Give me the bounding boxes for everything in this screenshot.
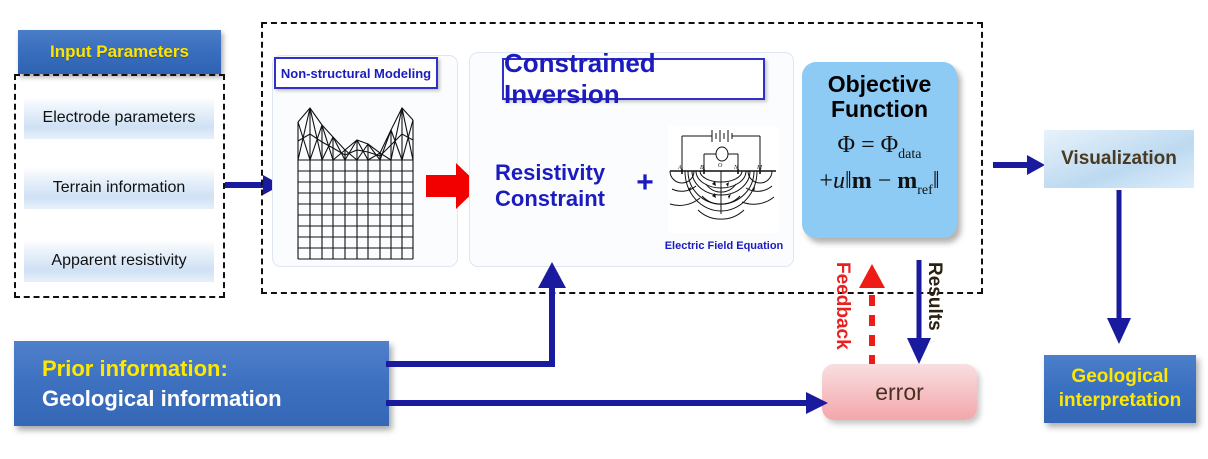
formula-norm-open: ‖	[845, 168, 852, 194]
formula-weight-u: u	[833, 168, 845, 194]
formula-subscript-ref: ref	[917, 183, 933, 198]
resistivity-constraint-line2: Constraint	[495, 186, 625, 212]
results-label: Results	[923, 262, 945, 331]
electric-field-caption: Electric Field Equation	[660, 240, 788, 252]
formula-plus: +	[819, 168, 833, 194]
electric-field-caption-label: Electric Field Equation	[665, 240, 784, 252]
resistivity-constraint-label: Resistivity Constraint	[495, 160, 625, 220]
arrow-visualization-to-geological	[1105, 190, 1133, 345]
arrow-objective-to-visualization	[993, 152, 1045, 178]
error-label: error	[875, 379, 924, 406]
input-item-label: Terrain information	[53, 179, 186, 197]
formula-vector-m: m	[852, 168, 872, 194]
diagram-canvas: Input Parameters Electrode parameters Te…	[0, 0, 1208, 459]
objective-function-formula-line1: Φ = Φdata	[838, 132, 922, 163]
plus-operator: +	[632, 166, 658, 200]
objective-function-title: Objective Function	[828, 72, 932, 123]
input-item-label: Electrode parameters	[43, 109, 196, 127]
prior-information-line2: Geological information	[14, 384, 389, 413]
geological-interpretation-line2: interpretation	[1059, 389, 1181, 413]
feedback-label-text: Feedback	[832, 262, 853, 350]
arrow-prior-to-inversion	[386, 262, 576, 372]
formula-equals: =	[861, 132, 875, 158]
visualization-box: Visualization	[1044, 130, 1194, 188]
objective-function-box: Objective Function Φ = Φdata +u‖m − mref…	[802, 62, 957, 238]
prior-information-box: Prior information: Geological informatio…	[14, 341, 389, 426]
input-item-terrain-information[interactable]: Terrain information	[24, 167, 214, 209]
arrow-prior-to-error	[386, 390, 828, 416]
error-box: error	[822, 364, 977, 420]
input-item-label: Apparent resistivity	[51, 252, 186, 270]
feedback-label: Feedback	[831, 262, 853, 350]
svg-text:B: B	[700, 165, 704, 171]
input-item-apparent-resistivity[interactable]: Apparent resistivity	[24, 240, 214, 282]
formula-subscript-data: data	[898, 146, 921, 161]
electric-field-figure: A B O N M	[668, 126, 778, 233]
prior-information-line1: Prior information:	[14, 354, 389, 383]
formula-vector-mref: m	[897, 168, 917, 194]
constrained-inversion-title-box: Constrained Inversion	[502, 58, 765, 100]
formula-phi-rhs: Φ	[881, 132, 899, 158]
svg-text:A: A	[677, 165, 682, 171]
svg-text:M: M	[756, 165, 763, 171]
mesh-figure	[288, 100, 428, 265]
modeling-title-label: Non-structural Modeling	[281, 66, 431, 81]
objective-function-title-line2: Function	[828, 97, 932, 122]
plus-operator-label: +	[636, 166, 654, 200]
geological-interpretation-line1: Geological	[1071, 365, 1168, 389]
geological-interpretation-box: Geological interpretation	[1044, 355, 1196, 423]
input-parameters-header: Input Parameters	[18, 30, 221, 74]
objective-function-title-line1: Objective	[828, 72, 932, 97]
objective-function-formula-line2: +u‖m − mref‖	[819, 168, 939, 199]
formula-minus: −	[878, 168, 892, 194]
resistivity-constraint-line1: Resistivity	[495, 160, 625, 186]
input-parameters-header-label: Input Parameters	[50, 42, 189, 62]
constrained-inversion-title-label: Constrained Inversion	[504, 48, 763, 110]
visualization-label: Visualization	[1061, 148, 1177, 170]
results-label-text: Results	[924, 262, 945, 331]
arrow-feedback-red-dashed	[858, 262, 886, 366]
formula-phi-lhs: Φ	[838, 132, 856, 158]
svg-text:O: O	[718, 163, 723, 169]
formula-norm-close: ‖	[933, 168, 940, 194]
modeling-title-box: Non-structural Modeling	[274, 57, 438, 89]
input-item-electrode-parameters[interactable]: Electrode parameters	[24, 97, 214, 139]
